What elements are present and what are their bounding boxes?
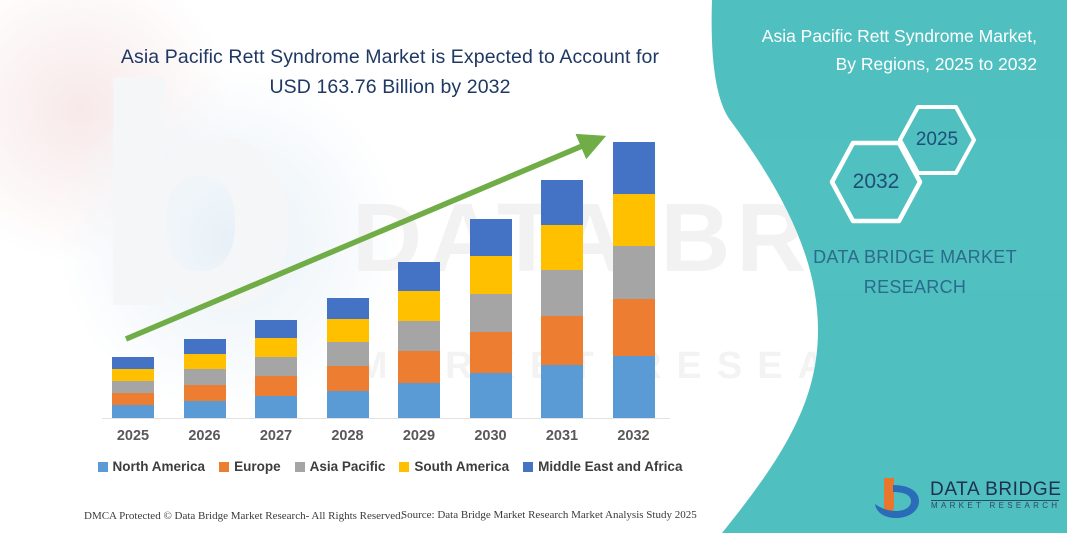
hex-badge-2025-label: 2025	[897, 104, 977, 176]
legend-item[interactable]: Europe	[219, 459, 281, 474]
bar-2030	[470, 219, 512, 418]
data-bridge-logo: DATA BRIDGE MARKET RESEARCH	[872, 476, 1062, 524]
legend-label: South America	[414, 459, 509, 474]
bar-segment	[613, 299, 655, 356]
bar-segment	[541, 225, 583, 270]
bar-segment	[398, 383, 440, 418]
x-axis-label-2029: 2029	[383, 428, 455, 444]
bar-2032	[613, 142, 655, 418]
bar-segment	[327, 319, 369, 342]
legend-swatch-icon	[295, 462, 305, 472]
growth-trend-arrow	[0, 0, 710, 533]
footer-source-note: Source: Data Bridge Market Research Mark…	[401, 509, 697, 521]
legend-label: North America	[113, 459, 206, 474]
bar-segment	[255, 320, 297, 338]
panel-heading-line-2: By Regions, 2025 to 2032	[730, 50, 1037, 78]
bar-segment	[470, 332, 512, 373]
legend-item[interactable]: South America	[399, 459, 509, 474]
bar-2027	[255, 320, 297, 418]
x-axis-label-2026: 2026	[169, 428, 241, 444]
infographic-canvas: b DATA BRIDGE MARKET RESEARCH Asia Pacif…	[0, 0, 1067, 533]
legend-swatch-icon	[523, 462, 533, 472]
x-axis-label-2031: 2031	[526, 428, 598, 444]
bar-segment	[613, 356, 655, 418]
panel-heading: Asia Pacific Rett Syndrome Market, By Re…	[730, 22, 1037, 78]
bar-segment	[398, 351, 440, 383]
bar-2029	[398, 262, 440, 418]
x-axis-label-2030: 2030	[455, 428, 527, 444]
panel-brand-line-2: RESEARCH	[790, 272, 1040, 302]
bar-segment	[327, 298, 369, 319]
bar-segment	[184, 339, 226, 354]
bar-segment	[327, 366, 369, 391]
bar-segment	[112, 405, 154, 418]
bar-segment	[541, 316, 583, 365]
bar-segment	[470, 219, 512, 256]
legend-label: Europe	[234, 459, 281, 474]
bar-segment	[613, 246, 655, 299]
legend-label: Middle East and Africa	[538, 459, 682, 474]
bar-segment	[470, 256, 512, 294]
bar-segment	[327, 391, 369, 418]
legend-item[interactable]: North America	[98, 459, 206, 474]
bar-segment	[112, 369, 154, 381]
bar-2031	[541, 180, 583, 418]
footer-dmca-notice: DMCA Protected © Data Bridge Market Rese…	[84, 510, 403, 522]
x-axis-label-2027: 2027	[240, 428, 312, 444]
bar-segment	[613, 142, 655, 194]
legend-swatch-icon	[219, 462, 229, 472]
panel-heading-line-1: Asia Pacific Rett Syndrome Market,	[730, 22, 1037, 50]
x-axis-label-2028: 2028	[312, 428, 384, 444]
bar-segment	[112, 357, 154, 369]
chart-legend: North AmericaEuropeAsia PacificSouth Ame…	[100, 459, 680, 474]
bar-segment	[541, 365, 583, 418]
x-axis-label-2032: 2032	[598, 428, 670, 444]
stacked-bar-chart: 20252026202720282029203020312032	[0, 0, 710, 533]
bar-segment	[541, 270, 583, 316]
legend-swatch-icon	[399, 462, 409, 472]
bar-segment	[398, 321, 440, 351]
bar-segment	[398, 291, 440, 321]
bar-segment	[184, 354, 226, 369]
x-axis-line	[102, 418, 670, 419]
bar-segment	[255, 396, 297, 418]
bar-2026	[184, 339, 226, 418]
bar-segment	[255, 338, 297, 357]
legend-swatch-icon	[98, 462, 108, 472]
hex-badge-2025: 2025	[897, 104, 977, 176]
bar-segment	[541, 180, 583, 225]
bar-segment	[112, 393, 154, 405]
bar-segment	[613, 194, 655, 246]
x-axis-label-2025: 2025	[97, 428, 169, 444]
logo-title: DATA BRIDGE	[930, 479, 1062, 501]
legend-item[interactable]: Middle East and Africa	[523, 459, 682, 474]
logo-subtitle: MARKET RESEARCH	[931, 501, 1060, 510]
data-bridge-logo-mark	[872, 476, 924, 522]
bar-segment	[184, 385, 226, 401]
bar-segment	[112, 381, 154, 393]
panel-brand-text: DATA BRIDGE MARKET RESEARCH	[790, 242, 1040, 302]
bar-segment	[470, 373, 512, 418]
bar-segment	[255, 357, 297, 376]
bar-segment	[184, 401, 226, 418]
bar-segment	[255, 376, 297, 396]
bar-2028	[327, 298, 369, 418]
legend-label: Asia Pacific	[310, 459, 386, 474]
panel-brand-line-1: DATA BRIDGE MARKET	[790, 242, 1040, 272]
legend-item[interactable]: Asia Pacific	[295, 459, 386, 474]
bar-segment	[327, 342, 369, 366]
bar-segment	[398, 262, 440, 291]
bar-segment	[470, 294, 512, 332]
bar-2025	[112, 357, 154, 418]
bar-segment	[184, 369, 226, 385]
